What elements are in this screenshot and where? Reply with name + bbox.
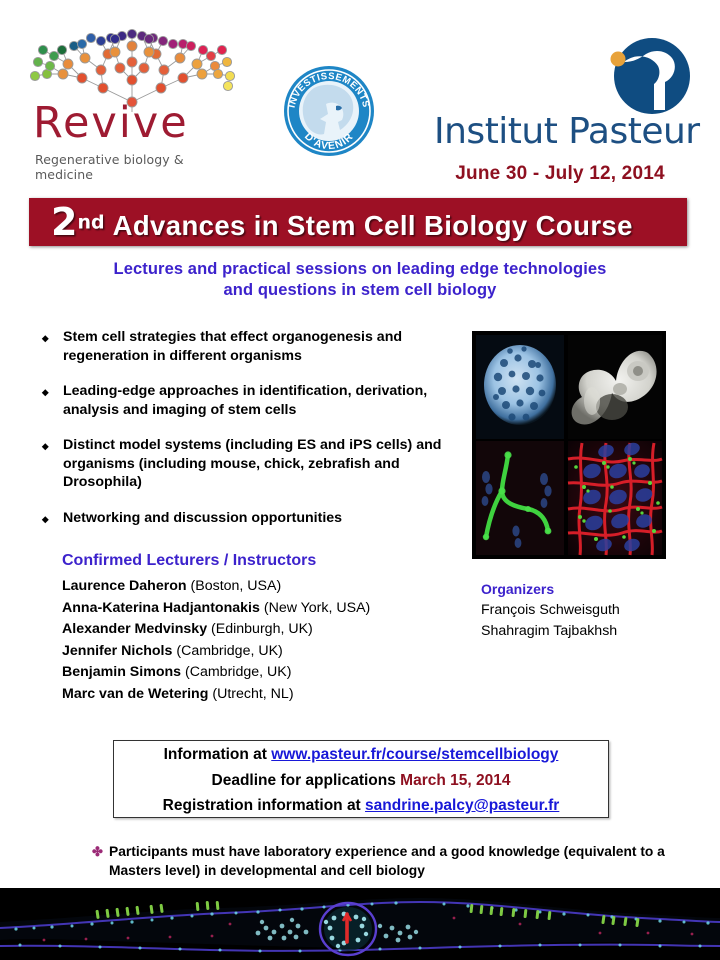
deadline-line: Deadline for applications March 15, 2014 <box>114 768 608 794</box>
micrograph-collage <box>472 331 666 559</box>
lecturer-name: Benjamin Simons <box>62 664 181 680</box>
title-banner-text: 2ndAdvances in Stem Cell Biology Course <box>51 200 633 244</box>
edition-ordinal: nd <box>77 212 104 234</box>
list-item: Leading-edge approaches in identificatio… <box>40 382 450 419</box>
poster-header: Revive Regenerative biology & medicine I… <box>0 0 720 188</box>
revive-tagline: Regenerative biology & medicine <box>35 152 240 182</box>
avenir-roundel-icon: INVESTISSEMENTS D'AVENIR <box>280 62 378 160</box>
lecturer-row: Laurence Daheron (Boston, USA) <box>62 576 462 598</box>
subtitle-line-2: and questions in stem cell biology <box>0 280 720 301</box>
organizer-name: François Schweisguth <box>481 600 701 621</box>
lecturer-location: (Boston, USA) <box>191 578 282 594</box>
information-box: Information at www.pasteur.fr/course/ste… <box>113 740 609 818</box>
course-highlights-list: Stem cell strategies that effect organog… <box>40 328 450 544</box>
collage-panel-embryo <box>568 335 662 439</box>
course-dates: June 30 - July 12, 2014 <box>420 163 700 185</box>
collage-panel-blastocyst <box>476 335 564 439</box>
revive-wordmark: Revive <box>33 102 189 145</box>
tissue-section-image <box>0 888 720 960</box>
lecturers-section: Confirmed Lecturers / Instructors Lauren… <box>62 552 462 705</box>
lecturer-name: Marc van de Wetering <box>62 686 208 702</box>
lecturer-name: Jennifer Nichols <box>62 643 172 659</box>
lecturer-location: (New York, USA) <box>264 600 370 616</box>
lecturer-location: (Edinburgh, UK) <box>211 621 313 637</box>
organizers-section: Organizers François Schweisguth Shahragi… <box>481 581 701 642</box>
lecturer-row: Marc van de Wetering (Utrecht, NL) <box>62 684 462 706</box>
revive-logo: Revive Regenerative biology & medicine <box>25 14 240 164</box>
lecturer-name: Anna-Katerina Hadjantonakis <box>62 600 260 616</box>
title-banner: 2ndAdvances in Stem Cell Biology Course <box>29 198 687 246</box>
organizers-heading: Organizers <box>481 581 701 597</box>
course-subtitle: Lectures and practical sessions on leadi… <box>0 259 720 301</box>
lecturer-location: (Utrecht, NL) <box>212 686 293 702</box>
collage-panel-green-branch <box>476 441 564 555</box>
information-line: Information at www.pasteur.fr/course/ste… <box>114 742 608 768</box>
registration-line: Registration information at sandrine.pal… <box>114 793 608 819</box>
lecturer-row: Anna-Katerina Hadjantonakis (New York, U… <box>62 598 462 620</box>
footer-micrograph-band <box>0 888 720 960</box>
lecturer-location: (Cambridge, UK) <box>185 664 291 680</box>
pasteur-wordmark: Institut Pasteur <box>434 114 700 150</box>
list-item: Networking and discussion opportunities <box>40 509 450 528</box>
course-website-link[interactable]: www.pasteur.fr/course/stemcellbiology <box>271 746 558 763</box>
pasteur-mark-icon <box>602 36 692 118</box>
edition-number: 2 <box>51 200 77 244</box>
institut-pasteur-logo: Institut Pasteur <box>420 36 700 151</box>
list-item: Stem cell strategies that effect organog… <box>40 328 450 365</box>
collage-panel-cell-junctions <box>568 441 662 555</box>
participant-requirements-note: Participants must have laboratory experi… <box>92 843 669 880</box>
lecturers-heading: Confirmed Lecturers / Instructors <box>62 552 462 570</box>
list-item: Distinct model systems (including ES and… <box>40 436 450 492</box>
collage-images <box>472 331 666 559</box>
lecturer-row: Alexander Medvinsky (Edinburgh, UK) <box>62 619 462 641</box>
deadline-prefix: Deadline for applications <box>212 772 401 789</box>
information-prefix: Information at <box>164 746 272 763</box>
investissements-davenir-logo: INVESTISSEMENTS D'AVENIR <box>280 62 378 160</box>
lecturer-row: Benjamin Simons (Cambridge, UK) <box>62 662 462 684</box>
organizer-name: Shahragim Tajbakhsh <box>481 621 701 642</box>
registration-email-link[interactable]: sandrine.palcy@pasteur.fr <box>365 797 559 814</box>
lecturer-name: Laurence Daheron <box>62 578 187 594</box>
lecturer-name: Alexander Medvinsky <box>62 621 207 637</box>
subtitle-line-1: Lectures and practical sessions on leadi… <box>0 259 720 280</box>
lecturer-location: (Cambridge, UK) <box>176 643 282 659</box>
course-title: Advances in Stem Cell Biology Course <box>113 210 633 241</box>
deadline-date: March 15, 2014 <box>400 772 510 789</box>
lecturer-row: Jennifer Nichols (Cambridge, UK) <box>62 641 462 663</box>
registration-prefix: Registration information at <box>163 797 365 814</box>
